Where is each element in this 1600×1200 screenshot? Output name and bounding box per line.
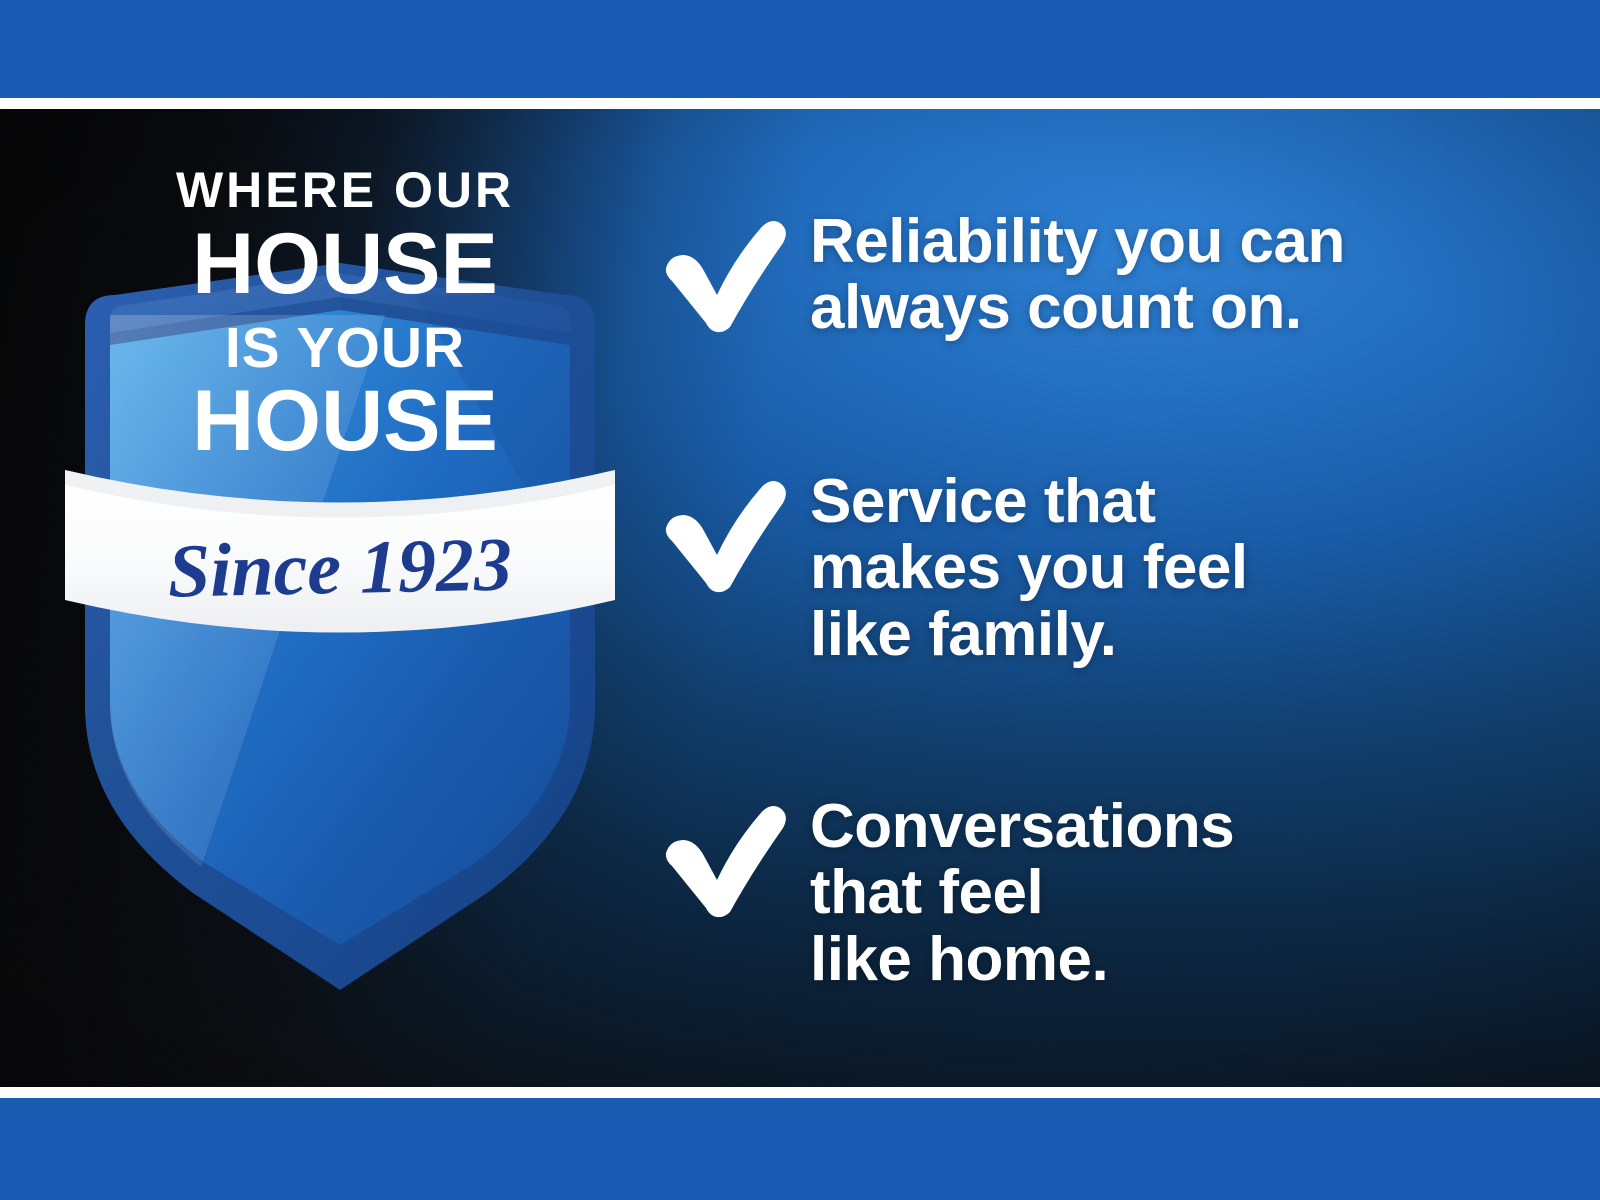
top-brand-bar [0, 0, 1600, 98]
badge-line-1: HOUSE [192, 216, 498, 312]
badge-ribbon-text-group: Since 1923 [167, 522, 513, 613]
checklist-item-label: Conversations that feel like home. [810, 794, 1234, 993]
badge-ribbon-text: Since 1923 [167, 522, 513, 613]
check-icon [660, 794, 810, 918]
checklist-item: Conversations that feel like home. [660, 794, 1234, 993]
checklist-item-label: Service that makes you feel like family. [810, 469, 1248, 668]
badge-line-2: IS YOUR [225, 316, 465, 380]
checklist-item-label: Reliability you can always count on. [810, 209, 1345, 342]
badge-line-3: HOUSE [192, 373, 498, 469]
badge-text: WHERE OUR HOUSE IS YOUR HOUSE [176, 162, 514, 469]
badge-line-0: WHERE OUR [176, 162, 514, 218]
check-icon [660, 209, 810, 333]
checklist-item: Reliability you can always count on. [660, 209, 1345, 342]
top-white-divider [0, 98, 1600, 109]
benefits-checklist: Reliability you can always count on. Ser… [660, 109, 1560, 1087]
check-icon [660, 469, 810, 593]
bottom-brand-bar [0, 1098, 1600, 1200]
checklist-item: Service that makes you feel like family. [660, 469, 1248, 668]
promo-graphic: WHERE OUR HOUSE IS YOUR HOUSE Since 1923 [0, 0, 1600, 1200]
bottom-white-divider [0, 1087, 1600, 1098]
shield-badge: WHERE OUR HOUSE IS YOUR HOUSE Since 1923 [55, 145, 625, 945]
